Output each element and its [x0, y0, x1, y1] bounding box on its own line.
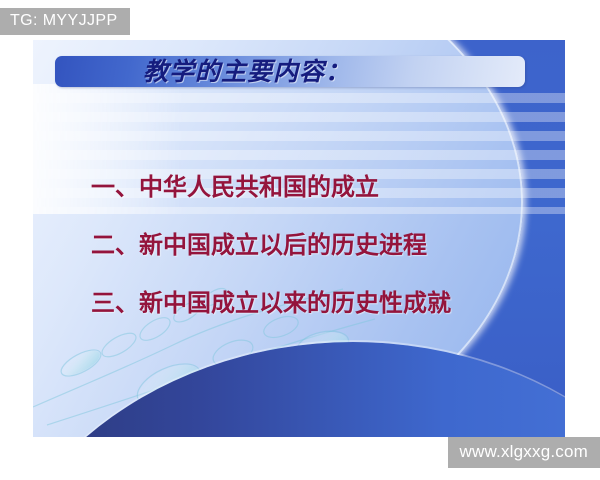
- content-item-2: 二、新中国成立以后的历史进程: [33, 216, 565, 274]
- presentation-slide: 教学的主要内容： 一、中华人民共和国的成立 二、新中国成立以后的历史进程 三、新…: [33, 40, 565, 437]
- watermark-top-left: TG: MYYJJPP: [0, 8, 130, 35]
- content-item-1: 一、中华人民共和国的成立: [33, 158, 565, 216]
- slide-content-list: 一、中华人民共和国的成立 二、新中国成立以后的历史进程 三、新中国成立以来的历史…: [33, 158, 565, 332]
- content-item-3: 三、新中国成立以来的历史性成就: [33, 274, 565, 332]
- slide-title: 教学的主要内容：: [143, 54, 563, 90]
- watermark-bottom-right: www.xlgxxg.com: [448, 437, 600, 468]
